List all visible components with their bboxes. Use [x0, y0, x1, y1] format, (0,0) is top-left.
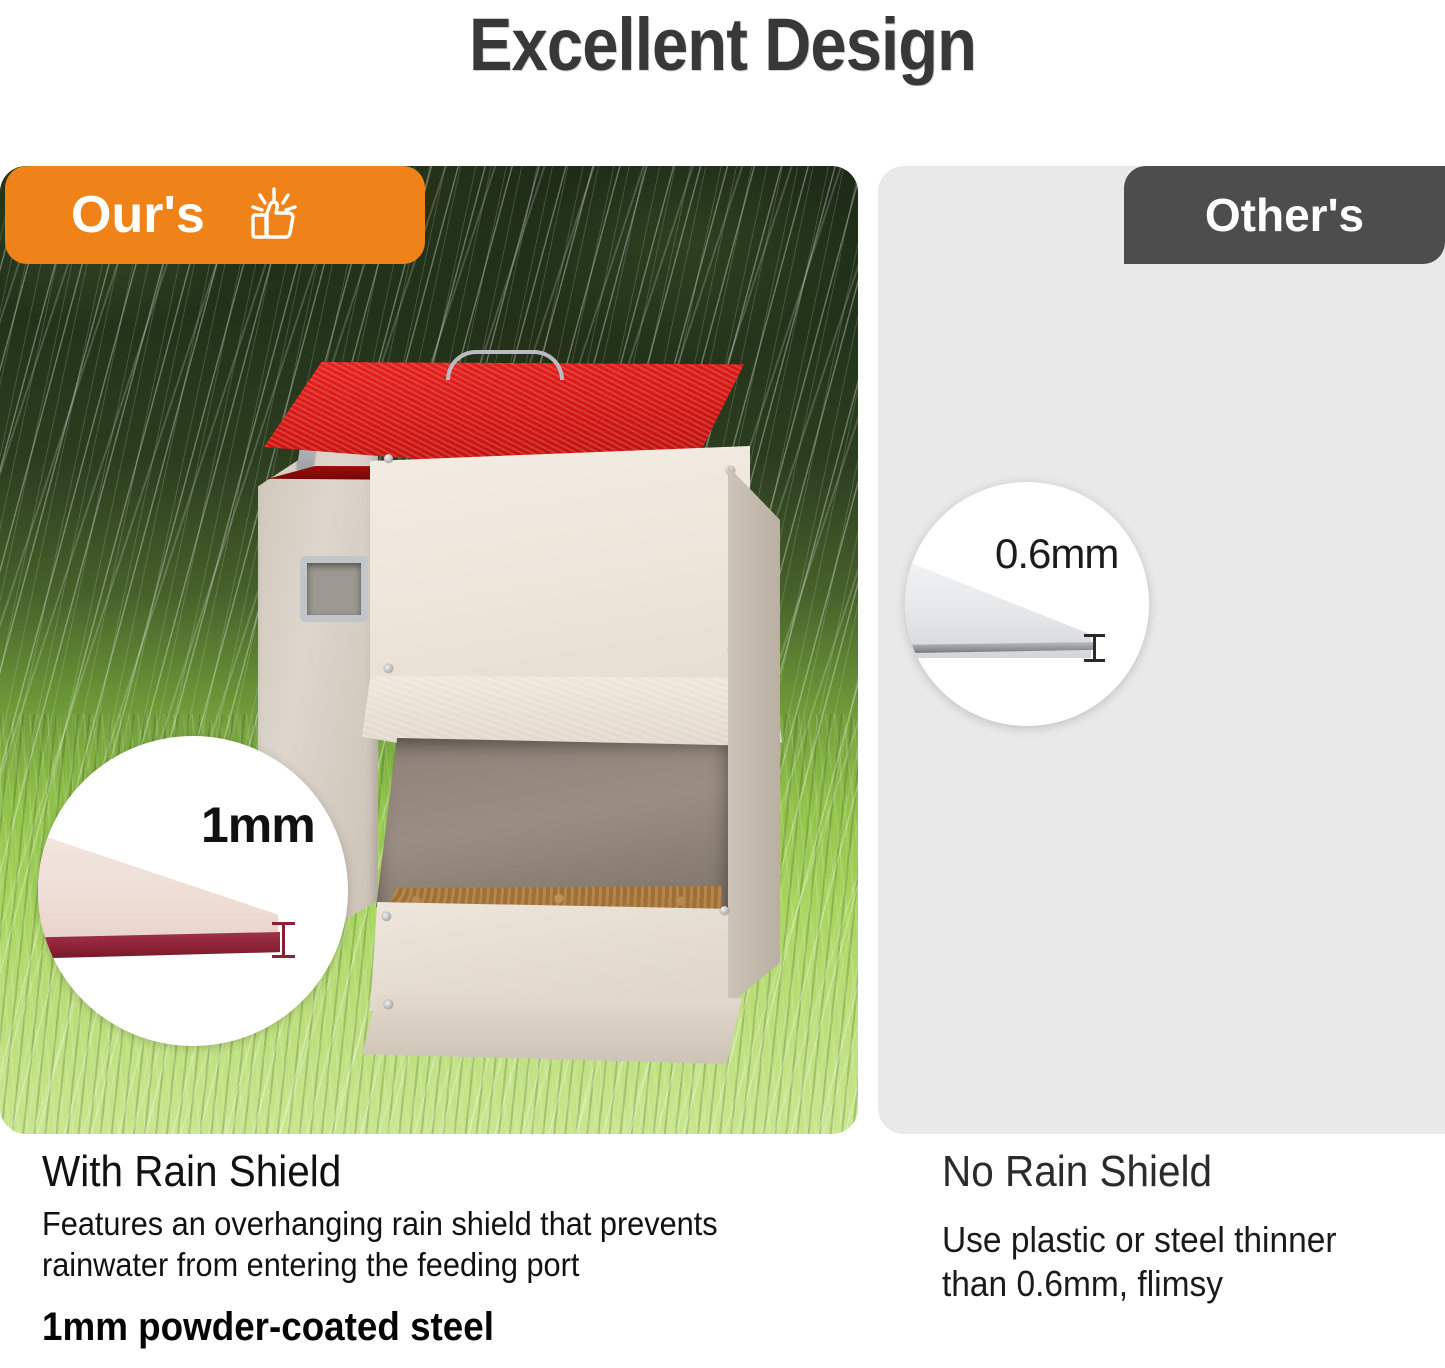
ours-feeder-image [258, 346, 818, 1066]
thumbs-up-icon [245, 186, 301, 244]
screw-icon [384, 454, 393, 463]
page-title: Excellent Design [87, 6, 1359, 84]
ours-caption-heading: With Rain Shield [42, 1148, 769, 1196]
ours-caption-body: Features an overhanging rain shield that… [42, 1204, 777, 1285]
feeder-front-panel [370, 446, 750, 696]
ours-panel: 1mm Our's [0, 166, 858, 1134]
screw-icon [384, 1000, 393, 1009]
screw-icon [384, 664, 393, 673]
thickness-value-others: 0.6mm [995, 530, 1118, 578]
screw-icon [382, 912, 391, 921]
ours-caption-highlight: 1mm powder-coated steel [42, 1305, 769, 1350]
others-panel: 0.6mm Other's [878, 166, 1445, 1134]
others-caption-body: Use plastic or steel thinner than 0.6mm,… [942, 1218, 1407, 1304]
caliper-measure-icon [1093, 634, 1096, 662]
ours-caption: With Rain Shield Features an overhanging… [42, 1148, 832, 1350]
feeder-right-side [728, 466, 780, 1006]
comparison-panels: 1mm Our's [0, 166, 1445, 1134]
screw-icon [720, 906, 729, 915]
thickness-value-ours: 1mm [201, 796, 315, 854]
ours-badge[interactable]: Our's [5, 166, 425, 264]
side-grip-handle [300, 556, 368, 622]
others-badge-label: Other's [1205, 192, 1364, 238]
thickness-callout-others: 0.6mm [905, 482, 1149, 726]
others-badge[interactable]: Other's [1124, 166, 1445, 264]
caliper-measure-icon [282, 922, 285, 958]
others-caption: No Rain Shield Use plastic or steel thin… [942, 1148, 1442, 1305]
thickness-callout-ours: 1mm [38, 736, 348, 1046]
ours-badge-label: Our's [71, 189, 205, 241]
others-caption-heading: No Rain Shield [942, 1148, 1402, 1196]
feeder-base [362, 994, 742, 1064]
carry-handle-icon [446, 350, 564, 380]
